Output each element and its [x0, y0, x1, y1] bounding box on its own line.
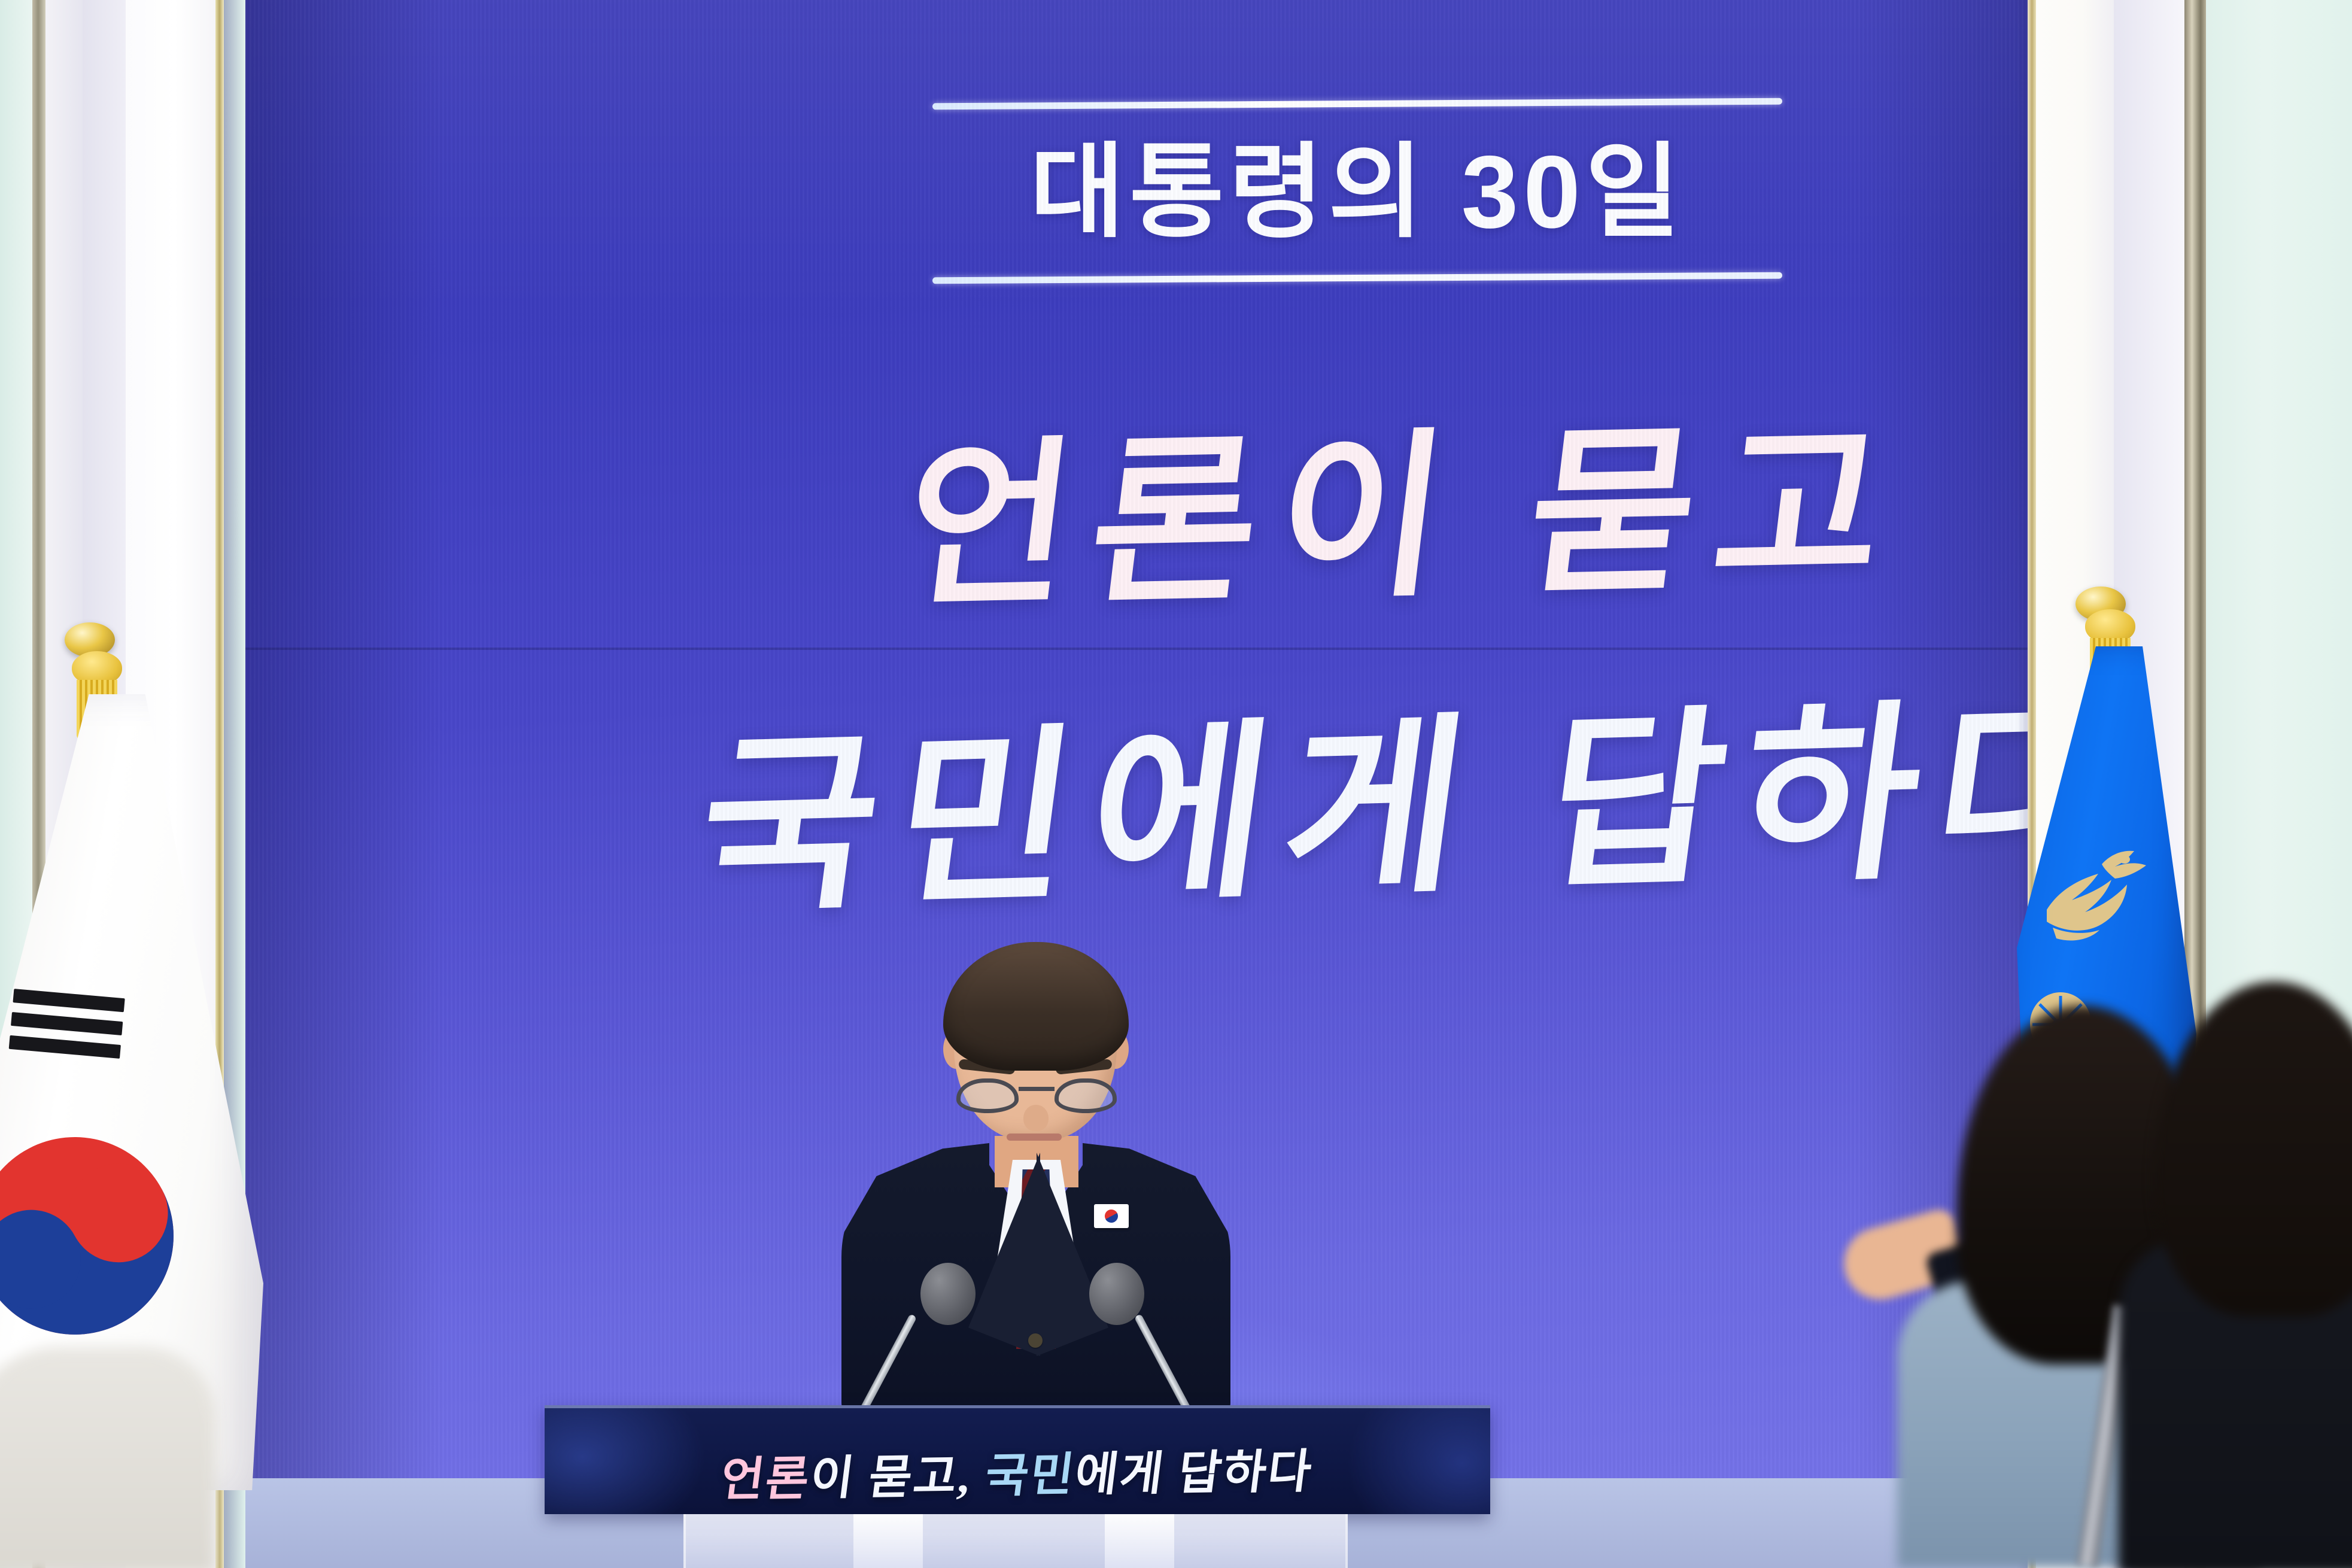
audience-2-hair: [2155, 981, 2352, 1317]
eyeglasses: [956, 1078, 1117, 1116]
glasses-bridge: [1019, 1087, 1055, 1091]
calligraphy-line-2: 국민에게 답하다: [685, 633, 2035, 949]
trigram-geon: [8, 989, 124, 1068]
lens-right: [1055, 1078, 1117, 1113]
microphone-head-left: [920, 1263, 976, 1325]
hair: [943, 942, 1129, 1071]
headline-block: 대통령의 30일: [932, 101, 1782, 281]
podium-slogan-part-1: 언론: [718, 1452, 814, 1506]
podium-sign: 언론이 묻고, 국민에게 답하다: [545, 1405, 1490, 1514]
calligraphy-line-1: 언론이 묻고: [893, 361, 1919, 642]
podium-slogan-part-4: 에게 답하다: [1072, 1445, 1316, 1501]
mouth: [1007, 1134, 1062, 1141]
podium-slogan-part-2: 이 묻고,: [807, 1450, 989, 1505]
podium-slogan-part-3: 국민: [982, 1449, 1078, 1502]
podium-base: [683, 1514, 1348, 1568]
audience-member-dark-jacket: [2119, 981, 2352, 1568]
backdrop-top-glow: [245, 0, 2035, 311]
backdrop-left-vignette: [245, 0, 443, 1478]
speaker-figure: [826, 928, 1245, 1418]
headline-rule-top: [932, 98, 1782, 110]
lens-left: [956, 1078, 1019, 1113]
audience-left-shoulder: [0, 1347, 215, 1568]
headline-text: 대통령의 30일: [932, 107, 1782, 275]
podium-slogan: 언론이 묻고, 국민에게 답하다: [545, 1432, 1490, 1512]
podium: 언론이 묻고, 국민에게 답하다: [545, 1405, 1490, 1568]
phoenix-emblem-icon: [2035, 838, 2160, 952]
korean-flag-lapel-pin: [1094, 1204, 1129, 1228]
audience-member-left-foreground: [0, 1293, 251, 1568]
headline-rule-bottom: [932, 272, 1782, 284]
podium-base-column-a: [853, 1514, 923, 1568]
lapel-pin-taeguk: [1102, 1207, 1120, 1225]
jacket-button: [1028, 1333, 1043, 1348]
podium-base-column-b: [1105, 1514, 1174, 1568]
backdrop-seam: [245, 648, 2035, 650]
press-conference-scene: 대통령의 30일 언론이 묻고 국민에게 답하다: [0, 0, 2352, 1568]
